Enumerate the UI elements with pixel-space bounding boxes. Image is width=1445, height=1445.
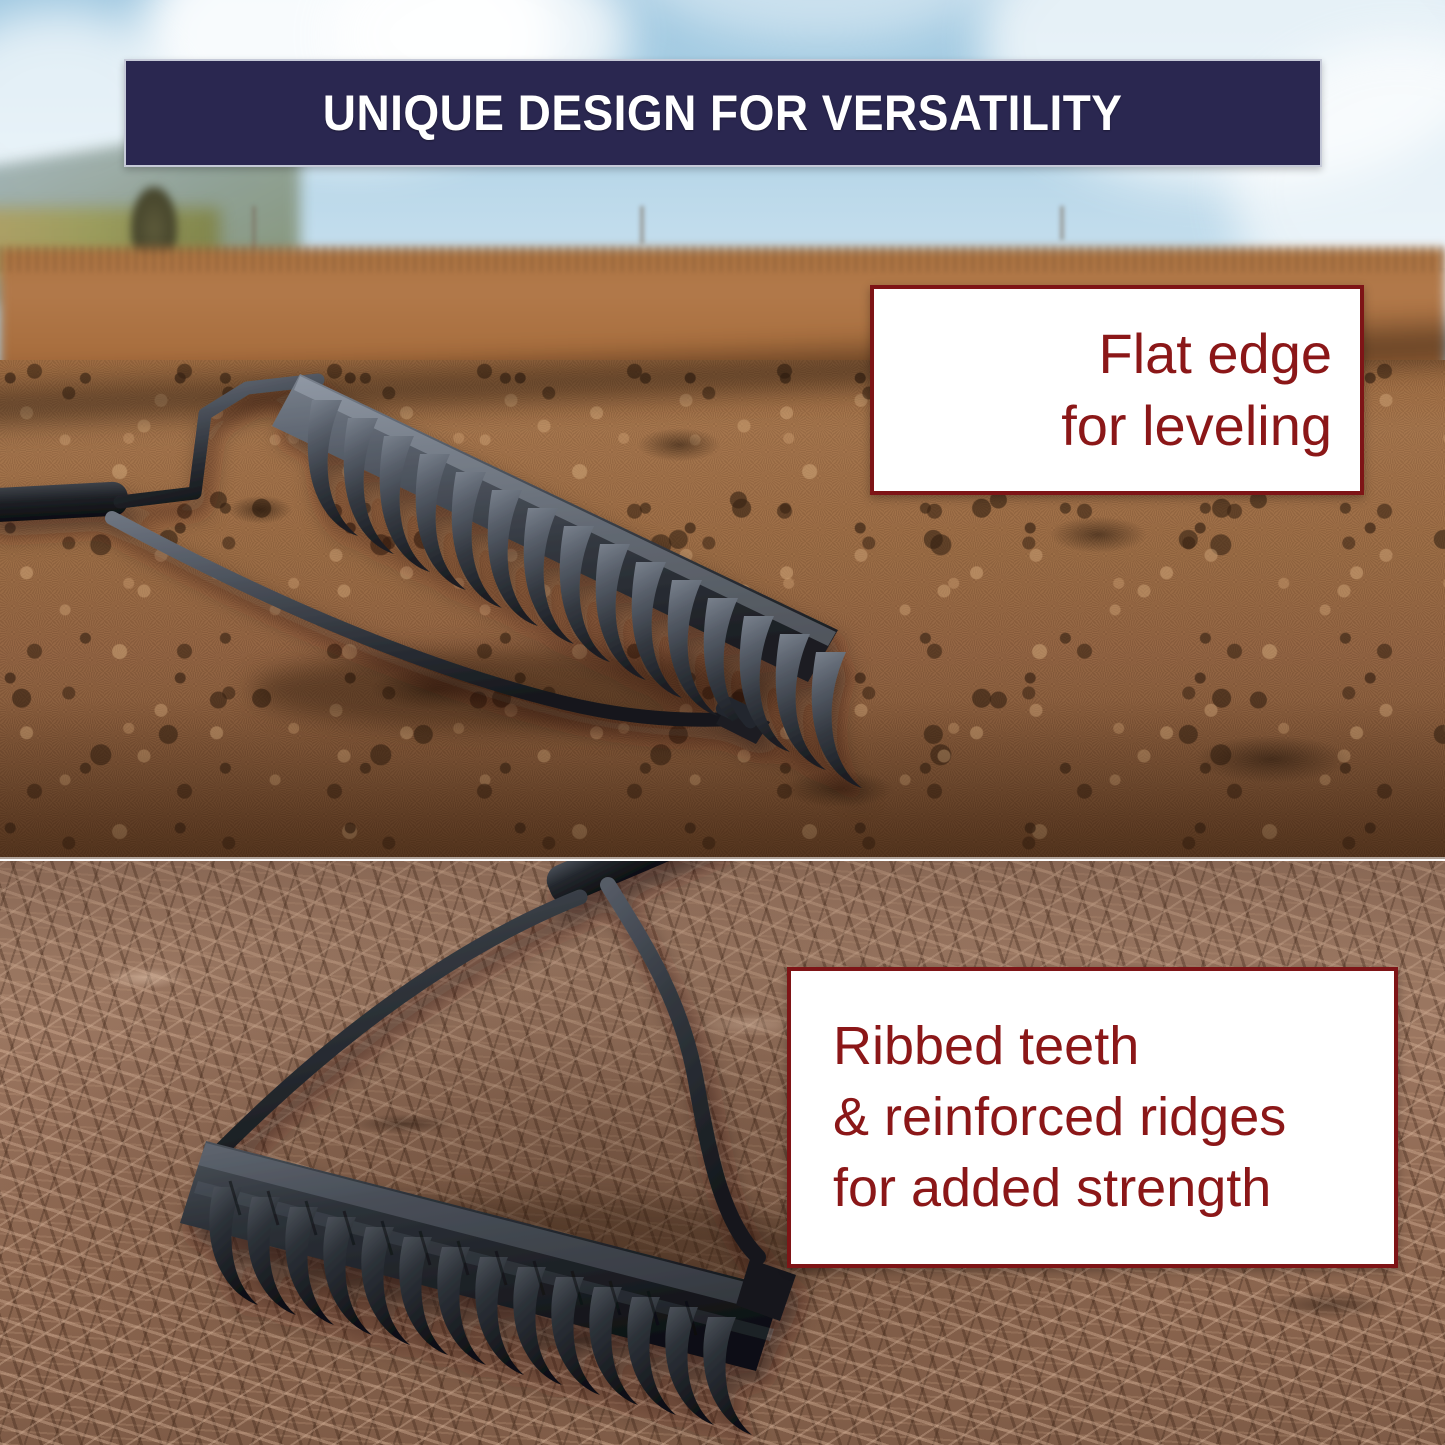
callout-ribbed-line-1: Ribbed teeth [833,1011,1139,1082]
callout-flat-edge-line-1: Flat edge [1099,318,1333,390]
callout-ribbed-teeth: Ribbed teeth & reinforced ridges for add… [787,967,1398,1268]
product-infographic: UNIQUE DESIGN FOR VERSATILITY Flat edge … [0,0,1445,1445]
fence-post [1060,206,1064,240]
callout-flat-edge-line-2: for leveling [1061,390,1332,462]
callout-ribbed-line-2: & reinforced ridges [833,1082,1286,1153]
panel-divider [0,857,1445,861]
callout-flat-edge: Flat edge for leveling [870,285,1364,495]
callout-ribbed-line-3: for added strength [833,1153,1271,1224]
cloud-shape [620,0,1020,40]
field-stubble [0,246,1445,272]
rake-tool-icon [0,330,880,750]
fence-post [640,206,644,244]
header-banner: UNIQUE DESIGN FOR VERSATILITY [124,59,1322,167]
page-title: UNIQUE DESIGN FOR VERSATILITY [323,84,1123,142]
